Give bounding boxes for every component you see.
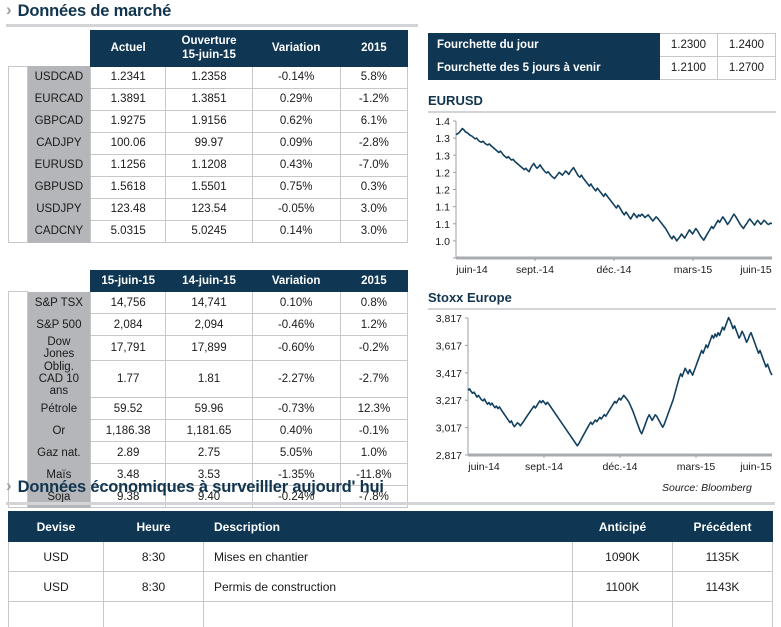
econ-header-heure: Heure <box>104 512 204 542</box>
other-header-prev: 14-juin-15 <box>166 271 252 292</box>
cell-ytd: -2.8% <box>340 132 407 154</box>
table-row: Gaz nat.2.892.755.05%1.0% <box>9 442 408 464</box>
cell-ouverture: 5.0245 <box>166 220 252 242</box>
row-label: USDCAD <box>27 66 90 88</box>
econ-header-description: Description <box>204 512 573 542</box>
other-markets-table-container: 15-juin-15 14-juin-15 Variation 2015 Aut… <box>8 270 413 508</box>
cell-variation: -0.73% <box>252 398 340 420</box>
svg-text:2,817: 2,817 <box>436 450 462 462</box>
cell-ytd: -2.7% <box>340 361 407 398</box>
source-note: Source: Bloomberg <box>662 482 752 494</box>
cell-ouverture: 1.5501 <box>166 176 252 198</box>
other-header-name-blank <box>27 271 90 292</box>
cell-ytd: 3.0% <box>340 198 407 220</box>
cell-today: 59.52 <box>90 398 166 420</box>
cell-ouverture: 1.3851 <box>166 88 252 110</box>
econ-row: USD8:30Permis de construction1100K1143K <box>9 572 773 602</box>
econ-row <box>9 602 773 627</box>
econ-cell-precedent: 1143K <box>673 572 773 602</box>
cell-variation: 0.10% <box>252 292 340 314</box>
cell-variation: -0.05% <box>252 198 340 220</box>
svg-text:mars-15: mars-15 <box>677 461 716 473</box>
cell-variation: 0.75% <box>252 176 340 198</box>
row-label: S&P TSX <box>27 292 90 314</box>
other-header-2015: 2015 <box>340 271 407 292</box>
table-row: Autres marchésS&P TSX14,75614,7410.10%0.… <box>9 292 408 314</box>
fourchette-low: 1.2300 <box>660 34 718 57</box>
table-row: FXUSDCAD1.23411.2358-0.14%5.8% <box>9 66 408 88</box>
cell-variation: -0.14% <box>252 66 340 88</box>
cell-ytd: 5.8% <box>340 66 407 88</box>
cell-ytd: 6.1% <box>340 110 407 132</box>
econ-cell-description: Mises en chantier <box>204 542 573 572</box>
cell-variation: -0.46% <box>252 314 340 336</box>
econ-cell-precedent <box>673 602 773 627</box>
table-row: GBPCAD1.92751.91560.62%6.1% <box>9 110 408 132</box>
table-row: CADCNY5.03155.02450.14%3.0% <box>9 220 408 242</box>
svg-text:juin-14: juin-14 <box>467 461 500 473</box>
econ-calendar-table: Devise Heure Description Anticipé Précéd… <box>8 511 773 627</box>
svg-text:sept.-14: sept.-14 <box>516 264 554 276</box>
cell-actuel: 5.0315 <box>90 220 166 242</box>
stoxx-chart-plot: 3,8173,6173,4173,2173,0172,817juin-14sep… <box>428 312 776 477</box>
cell-ytd: 12.3% <box>340 398 407 420</box>
other-markets-table: 15-juin-15 14-juin-15 Variation 2015 Aut… <box>8 270 408 508</box>
chart-series-line <box>468 318 772 446</box>
table-row: S&P 5002,0842,094-0.46%1.2% <box>9 314 408 336</box>
page-title: Données de marché <box>18 2 171 21</box>
cell-ytd: 0.3% <box>340 176 407 198</box>
econ-header-devise: Devise <box>9 512 104 542</box>
table-row: USDJPY123.48123.54-0.05%3.0% <box>9 198 408 220</box>
cell-variation: 0.14% <box>252 220 340 242</box>
cell-ytd: -0.2% <box>340 336 407 361</box>
econ-cell-heure: 8:30 <box>104 542 204 572</box>
svg-text:1.0: 1.0 <box>435 236 450 248</box>
svg-text:juin-15: juin-15 <box>739 264 772 276</box>
fx-header-2015: 2015 <box>340 31 407 67</box>
cell-actuel: 1.3891 <box>90 88 166 110</box>
econ-section-title: Données économiques à surveilller aujour… <box>18 478 384 497</box>
cell-today: 2,084 <box>90 314 166 336</box>
section-divider <box>6 24 418 27</box>
table-row: Or1,186.381,181.650.40%-0.1% <box>9 420 408 442</box>
fourchette-row: Fourchette des 5 jours à venir1.21001.27… <box>429 57 776 80</box>
cell-prev: 2.75 <box>166 442 252 464</box>
svg-text:déc.-14: déc.-14 <box>602 461 637 473</box>
cell-prev: 2,094 <box>166 314 252 336</box>
econ-cell-description: Permis de construction <box>204 572 573 602</box>
econ-cell-devise <box>9 602 104 627</box>
fx-table: Actuel Ouverture 15-juin-15 Variation 20… <box>8 30 408 243</box>
svg-text:1.1: 1.1 <box>435 219 450 231</box>
cell-ouverture: 1.2358 <box>166 66 252 88</box>
cell-prev: 1,181.65 <box>166 420 252 442</box>
row-label: GBPUSD <box>27 176 90 198</box>
row-label: EURUSD <box>27 154 90 176</box>
market-section-header: › Données de marché <box>6 2 418 27</box>
fx-header-ouverture-line2: 15-juin-15 <box>168 48 249 62</box>
fourchette-label: Fourchette des 5 jours à venir <box>429 57 660 80</box>
market-dashboard-page: › Données de marché Actuel Ouverture 15-… <box>0 0 781 627</box>
cell-variation: -2.27% <box>252 361 340 398</box>
fourchette-row: Fourchette du jour1.23001.2400 <box>429 34 776 57</box>
svg-text:3,817: 3,817 <box>436 313 462 325</box>
cell-today: 1.77 <box>90 361 166 398</box>
svg-text:déc.-14: déc.-14 <box>596 264 631 276</box>
table-row: Dow Jones17,79117,899-0.60%-0.2% <box>9 336 408 361</box>
svg-text:3,617: 3,617 <box>436 340 462 352</box>
cell-prev: 59.96 <box>166 398 252 420</box>
cell-today: 17,791 <box>90 336 166 361</box>
econ-cell-anticipe: 1100K <box>573 572 673 602</box>
svg-text:1.3: 1.3 <box>435 133 450 145</box>
cell-variation: 0.62% <box>252 110 340 132</box>
cell-ouverture: 1.1208 <box>166 154 252 176</box>
stoxx-chart-divider <box>428 308 776 310</box>
row-label: CADJPY <box>27 132 90 154</box>
other-header-variation: Variation <box>252 271 340 292</box>
svg-text:juin-14: juin-14 <box>455 264 488 276</box>
fx-header-variation: Variation <box>252 31 340 67</box>
svg-text:1.2: 1.2 <box>435 185 450 197</box>
cell-variation: 0.40% <box>252 420 340 442</box>
table-row: EURCAD1.38911.38510.29%-1.2% <box>9 88 408 110</box>
stoxx-chart-title: Stoxx Europe <box>428 290 776 305</box>
cell-prev: 1.81 <box>166 361 252 398</box>
svg-text:sept.-14: sept.-14 <box>525 461 563 473</box>
fx-side-label-text: FX <box>12 147 24 162</box>
cell-ytd: -7.0% <box>340 154 407 176</box>
svg-text:1.1: 1.1 <box>435 202 450 214</box>
econ-cell-heure: 8:30 <box>104 572 204 602</box>
cell-variation: 0.09% <box>252 132 340 154</box>
table-row: Oblig. CAD 10 ans1.771.81-2.27%-2.7% <box>9 361 408 398</box>
econ-cell-anticipe <box>573 602 673 627</box>
table-row: Pétrole59.5259.96-0.73%12.3% <box>9 398 408 420</box>
fourchette-table-container: Fourchette du jour1.23001.2400Fourchette… <box>428 33 776 80</box>
chevron-right-icon-econ: › <box>6 477 12 494</box>
svg-text:1.2: 1.2 <box>435 167 450 179</box>
cell-ouverture: 99.97 <box>166 132 252 154</box>
econ-cell-description <box>204 602 573 627</box>
cell-today: 14,756 <box>90 292 166 314</box>
chart-series-line <box>456 129 772 241</box>
cell-ytd: -1.2% <box>340 88 407 110</box>
row-label: Or <box>27 420 90 442</box>
econ-header-row: Devise Heure Description Anticipé Précéd… <box>9 512 773 542</box>
econ-row: USD8:30Mises en chantier1090K1135K <box>9 542 773 572</box>
fx-header-ouverture-line1: Ouverture <box>168 34 249 48</box>
eurusd-line-chart: 1.41.31.31.21.21.11.11.0juin-14sept.-14d… <box>428 115 776 280</box>
cell-variation: 5.05% <box>252 442 340 464</box>
econ-header-precedent: Précédent <box>673 512 773 542</box>
svg-text:juin-15: juin-15 <box>739 461 772 473</box>
cell-ytd: 0.8% <box>340 292 407 314</box>
cell-today: 1,186.38 <box>90 420 166 442</box>
cell-actuel: 123.48 <box>90 198 166 220</box>
econ-cell-precedent: 1135K <box>673 542 773 572</box>
row-label: Oblig. CAD 10 ans <box>27 361 90 398</box>
other-header-sidebar-blank <box>9 271 28 292</box>
fx-table-header-row: Actuel Ouverture 15-juin-15 Variation 20… <box>9 31 408 67</box>
eurusd-chart-plot: 1.41.31.31.21.21.11.11.0juin-14sept.-14d… <box>428 115 776 280</box>
svg-text:mars-15: mars-15 <box>674 264 713 276</box>
fx-header-sidebar-blank <box>9 31 28 67</box>
econ-header-anticipe: Anticipé <box>573 512 673 542</box>
cell-actuel: 1.1256 <box>90 154 166 176</box>
fx-table-container: Actuel Ouverture 15-juin-15 Variation 20… <box>8 30 413 243</box>
svg-text:1.4: 1.4 <box>435 116 450 128</box>
row-label: CADCNY <box>27 220 90 242</box>
row-label: Pétrole <box>27 398 90 420</box>
row-label: S&P 500 <box>27 314 90 336</box>
eurusd-chart-divider <box>428 111 776 113</box>
cell-actuel: 1.9275 <box>90 110 166 132</box>
cell-variation: 0.43% <box>252 154 340 176</box>
cell-ouverture: 123.54 <box>166 198 252 220</box>
econ-cell-anticipe: 1090K <box>573 542 673 572</box>
cell-prev: 17,899 <box>166 336 252 361</box>
other-header-today: 15-juin-15 <box>90 271 166 292</box>
cell-ytd: 3.0% <box>340 220 407 242</box>
eurusd-chart-container: EURUSD 1.41.31.31.21.21.11.11.0juin-14se… <box>428 93 776 280</box>
cell-variation: -0.60% <box>252 336 340 361</box>
fx-header-actuel: Actuel <box>90 31 166 67</box>
row-label: Dow Jones <box>27 336 90 361</box>
cell-today: 2.89 <box>90 442 166 464</box>
svg-text:3,217: 3,217 <box>436 395 462 407</box>
econ-cell-heure <box>104 602 204 627</box>
cell-ytd: -0.1% <box>340 420 407 442</box>
row-label: EURCAD <box>27 88 90 110</box>
fourchette-high: 1.2700 <box>718 57 776 80</box>
econ-cell-devise: USD <box>9 572 104 602</box>
svg-text:3,417: 3,417 <box>436 368 462 380</box>
econ-cell-devise: USD <box>9 542 104 572</box>
econ-section-divider <box>6 502 775 505</box>
cell-actuel: 1.2341 <box>90 66 166 88</box>
cell-actuel: 100.06 <box>90 132 166 154</box>
cell-actuel: 1.5618 <box>90 176 166 198</box>
econ-section-header: › Données économiques à surveilller aujo… <box>6 478 646 497</box>
chevron-right-icon: › <box>6 1 12 18</box>
eurusd-chart-title: EURUSD <box>428 93 776 108</box>
cell-prev: 14,741 <box>166 292 252 314</box>
econ-table-container: Devise Heure Description Anticipé Précéd… <box>8 511 773 627</box>
row-label: GBPCAD <box>27 110 90 132</box>
svg-text:3,017: 3,017 <box>436 423 462 435</box>
fourchette-high: 1.2400 <box>718 34 776 57</box>
fourchette-low: 1.2100 <box>660 57 718 80</box>
fx-header-name-blank <box>27 31 90 67</box>
table-row: EURUSD1.12561.12080.43%-7.0% <box>9 154 408 176</box>
fourchette-label: Fourchette du jour <box>429 34 660 57</box>
other-side-label-text: Autres marchés <box>12 355 24 445</box>
svg-text:1.3: 1.3 <box>435 150 450 162</box>
stoxx-chart-container: Stoxx Europe 3,8173,6173,4173,2173,0172,… <box>428 290 776 477</box>
cell-ytd: 1.0% <box>340 442 407 464</box>
fourchette-table: Fourchette du jour1.23001.2400Fourchette… <box>428 33 776 80</box>
row-label: USDJPY <box>27 198 90 220</box>
cell-ouverture: 1.9156 <box>166 110 252 132</box>
other-table-header-row: 15-juin-15 14-juin-15 Variation 2015 <box>9 271 408 292</box>
stoxx-line-chart: 3,8173,6173,4173,2173,0172,817juin-14sep… <box>428 312 776 477</box>
table-row: GBPUSD1.56181.55010.75%0.3% <box>9 176 408 198</box>
table-row: CADJPY100.0699.970.09%-2.8% <box>9 132 408 154</box>
cell-variation: 0.29% <box>252 88 340 110</box>
row-label: Gaz nat. <box>27 442 90 464</box>
cell-ytd: 1.2% <box>340 314 407 336</box>
fx-side-label: FX <box>9 66 28 242</box>
fx-header-ouverture: Ouverture 15-juin-15 <box>166 31 252 67</box>
